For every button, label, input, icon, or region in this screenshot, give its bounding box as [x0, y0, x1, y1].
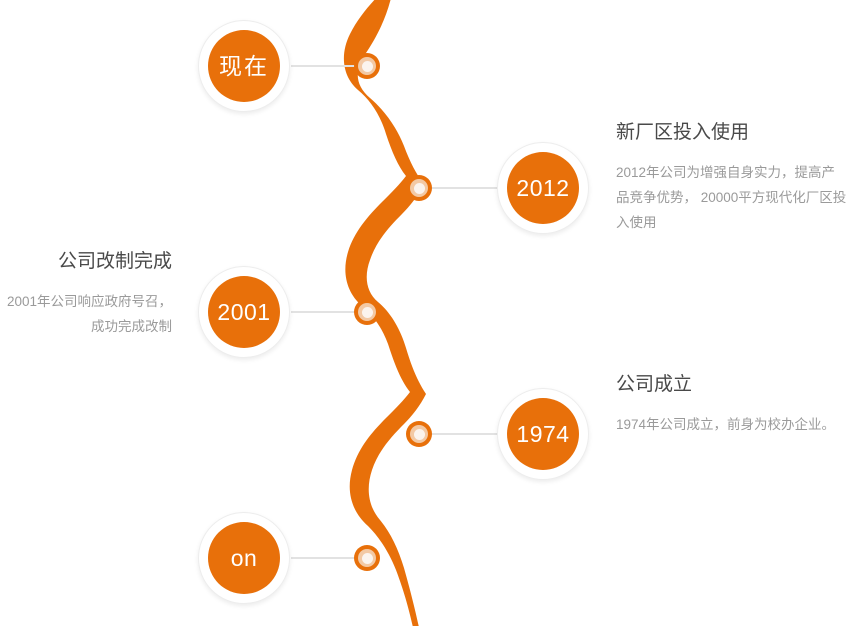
node-dot-now[interactable] — [354, 53, 380, 79]
badge-2001[interactable]: 2001 — [198, 266, 290, 358]
connector-1974 — [425, 433, 500, 435]
badge-disc: 2001 — [208, 276, 280, 348]
entry-title: 公司改制完成 — [0, 249, 172, 276]
badge-disc: 2012 — [507, 152, 579, 224]
badge-label: 1974 — [516, 423, 569, 446]
node-core — [414, 429, 425, 440]
badge-disc: 现在 — [208, 30, 280, 102]
badge-label: 现在 — [219, 55, 269, 78]
entry-body: 1974年公司成立，前身为校办企业。 — [616, 413, 848, 438]
node-dot-on[interactable] — [354, 545, 380, 571]
badge-now[interactable]: 现在 — [198, 20, 290, 112]
badge-1974[interactable]: 1974 — [497, 388, 589, 480]
badge-disc: on — [208, 522, 280, 594]
connector-on — [291, 557, 363, 559]
node-ring — [410, 425, 428, 443]
badge-on[interactable]: on — [198, 512, 290, 604]
badge-label: 2001 — [217, 301, 270, 324]
node-ring — [358, 57, 376, 75]
badge-label: on — [231, 547, 258, 570]
entry-body: 2001年公司响应政府号召，成功完成改制 — [0, 290, 172, 340]
text-block-2012: 新厂区投入使用 2012年公司为增强自身实力，提高产品竞争优势， 20000平方… — [616, 120, 848, 236]
badge-label: 2012 — [516, 177, 569, 200]
node-ring — [358, 303, 376, 321]
entry-body: 2012年公司为增强自身实力，提高产品竞争优势， 20000平方现代化厂区投入使… — [616, 161, 848, 236]
node-ring — [358, 549, 376, 567]
connector-now — [291, 65, 363, 67]
timeline-spine — [330, 0, 445, 626]
timeline-infographic: 现在 2012 新厂区投入使用 2012年公司为增强自身实力，提高产品竞争优势，… — [0, 0, 848, 626]
entry-title: 公司成立 — [616, 372, 848, 399]
node-ring — [410, 179, 428, 197]
node-dot-2001[interactable] — [354, 299, 380, 325]
node-core — [414, 183, 425, 194]
badge-disc: 1974 — [507, 398, 579, 470]
text-block-1974: 公司成立 1974年公司成立，前身为校办企业。 — [616, 372, 848, 438]
text-block-2001: 公司改制完成 2001年公司响应政府号召，成功完成改制 — [0, 249, 172, 340]
connector-2001 — [291, 311, 363, 313]
node-core — [362, 307, 373, 318]
node-dot-1974[interactable] — [406, 421, 432, 447]
badge-2012[interactable]: 2012 — [497, 142, 589, 234]
entry-title: 新厂区投入使用 — [616, 120, 848, 147]
node-core — [362, 61, 373, 72]
node-core — [362, 553, 373, 564]
node-dot-2012[interactable] — [406, 175, 432, 201]
connector-2012 — [425, 187, 500, 189]
